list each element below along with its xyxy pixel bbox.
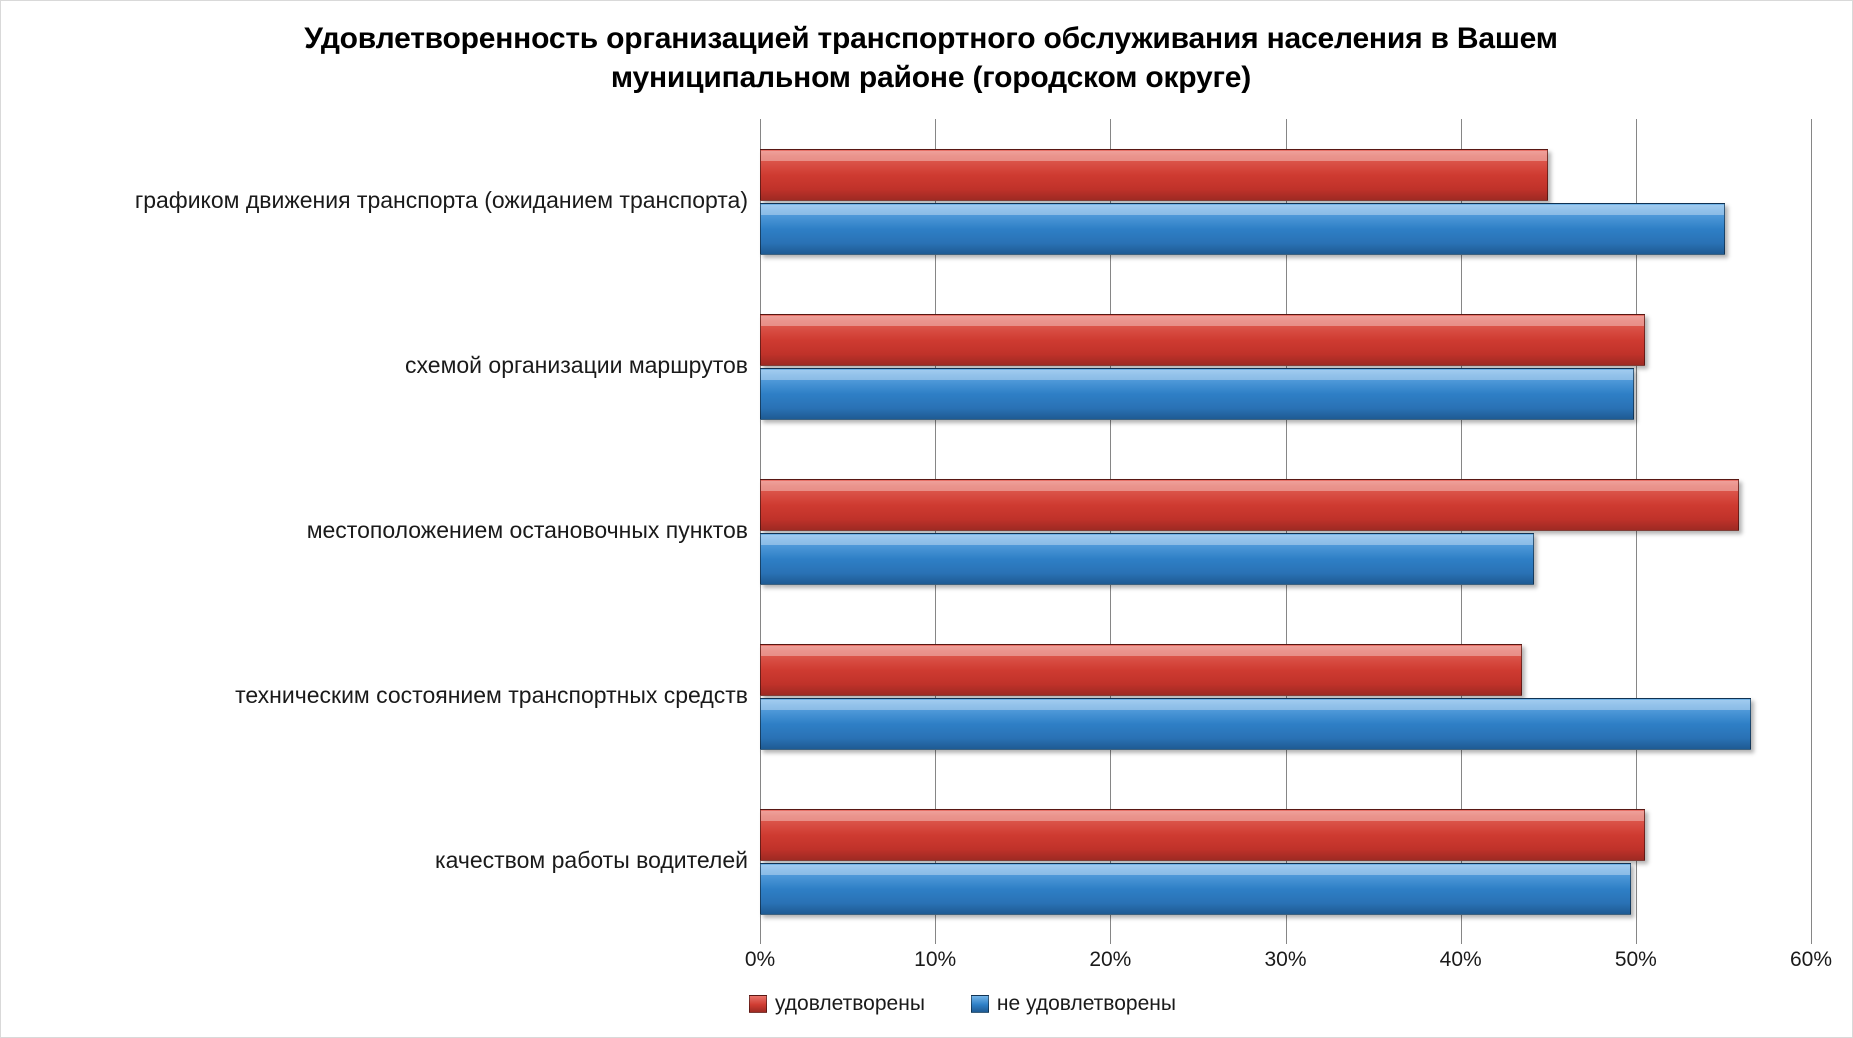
- x-tick-label: 60%: [1790, 948, 1832, 972]
- bar-gloss: [761, 811, 1644, 821]
- category-row: [760, 779, 1811, 944]
- x-tick-label: 30%: [1264, 948, 1306, 972]
- x-axis: 0%10%20%30%40%50%60%: [760, 948, 1811, 982]
- bar-satisfied[interactable]: [760, 314, 1645, 366]
- bar-fill: [760, 203, 1725, 255]
- bar-unsatisfied[interactable]: [760, 698, 1751, 750]
- x-tick-label: 40%: [1440, 948, 1482, 972]
- x-tick-label: 20%: [1089, 948, 1131, 972]
- legend-item-satisfied[interactable]: удовлетворены: [749, 992, 925, 1016]
- bar-satisfied[interactable]: [760, 644, 1522, 696]
- bar-gloss: [761, 151, 1547, 161]
- bar-fill: [760, 149, 1548, 201]
- bar-gloss: [761, 370, 1633, 380]
- bar-unsatisfied[interactable]: [760, 203, 1725, 255]
- bar-gloss: [761, 205, 1724, 215]
- category-label: техническим состоянием транспортных сред…: [235, 682, 748, 709]
- bar-gloss: [761, 316, 1644, 326]
- bar-fill: [760, 863, 1631, 915]
- bar-fill: [760, 809, 1645, 861]
- chart-title-line-1: Удовлетворенность организацией транспорт…: [151, 19, 1711, 58]
- bar-gloss: [761, 481, 1738, 491]
- chart-container: Удовлетворенность организацией транспорт…: [0, 0, 1853, 1038]
- plot-area: [760, 119, 1811, 944]
- legend-item-unsatisfied[interactable]: не удовлетворены: [971, 992, 1176, 1016]
- chart-title: Удовлетворенность организацией транспорт…: [151, 19, 1711, 97]
- legend-swatch-icon: [749, 995, 767, 1013]
- category-row: [760, 119, 1811, 284]
- bar-satisfied[interactable]: [760, 149, 1548, 201]
- bar-unsatisfied[interactable]: [760, 863, 1631, 915]
- category-label: схемой организации маршрутов: [405, 352, 748, 379]
- chart-legend: удовлетвореныне удовлетворены: [749, 992, 1176, 1016]
- chart-title-line-2: муниципальном районе (городском округе): [151, 58, 1711, 97]
- category-label: графиком движения транспорта (ожиданием …: [135, 187, 748, 214]
- legend-label: не удовлетворены: [997, 992, 1176, 1016]
- bar-gloss: [761, 700, 1750, 710]
- bar-gloss: [761, 646, 1521, 656]
- bar-satisfied[interactable]: [760, 809, 1645, 861]
- bar-fill: [760, 314, 1645, 366]
- category-label: качеством работы водителей: [435, 847, 748, 874]
- x-tick-label: 10%: [914, 948, 956, 972]
- legend-label: удовлетворены: [775, 992, 925, 1016]
- bar-fill: [760, 533, 1534, 585]
- bar-fill: [760, 698, 1751, 750]
- bar-satisfied[interactable]: [760, 479, 1739, 531]
- bar-fill: [760, 644, 1522, 696]
- legend-swatch-icon: [971, 995, 989, 1013]
- x-tick-label: 0%: [745, 948, 775, 972]
- bar-unsatisfied[interactable]: [760, 533, 1534, 585]
- category-row: [760, 614, 1811, 779]
- category-row: [760, 449, 1811, 614]
- category-row: [760, 284, 1811, 449]
- gridline: [1811, 119, 1812, 944]
- bar-unsatisfied[interactable]: [760, 368, 1634, 420]
- bar-fill: [760, 479, 1739, 531]
- bar-fill: [760, 368, 1634, 420]
- bar-gloss: [761, 865, 1630, 875]
- x-tick-label: 50%: [1615, 948, 1657, 972]
- bar-gloss: [761, 535, 1533, 545]
- category-label: местоположением остановочных пунктов: [307, 517, 748, 544]
